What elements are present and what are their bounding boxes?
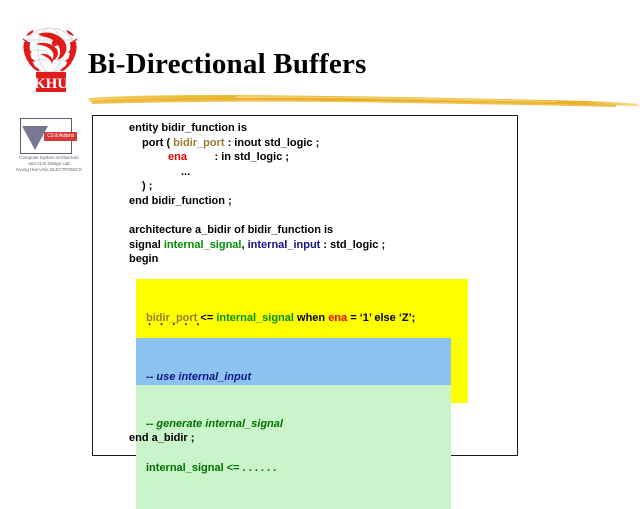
khu-logo: KHU — [14, 20, 86, 96]
code-line: ) ; — [129, 179, 513, 194]
code-token: internal_input — [248, 239, 321, 251]
code-token: internal_signal — [216, 312, 294, 324]
code-line: ... — [129, 165, 513, 180]
dept-logo-badge: CS & Actions — [44, 132, 77, 141]
code-token: = ‘1’ else ‘Z’; — [347, 312, 415, 324]
code-token: architecture a_bidir of bidir_function i… — [129, 224, 333, 236]
code-token: ) ; — [142, 180, 152, 192]
vhdl-code-panel: entity bidir_function isport ( bidir_por… — [92, 115, 518, 456]
department-lab-logo: CS & Actions Computer System Architectur… — [14, 118, 84, 180]
code-token: ena — [168, 151, 187, 163]
code-token: end bidir_function ; — [129, 195, 232, 207]
green-comment-line: -- generate internal_signal — [146, 417, 451, 432]
code-line: architecture a_bidir of bidir_function i… — [129, 223, 513, 238]
code-blank-line — [129, 209, 513, 224]
code-token: : inout std_logic ; — [225, 137, 320, 149]
code-line: begin — [129, 252, 513, 267]
code-token: bidir_port — [173, 137, 224, 149]
code-line: port ( bidir_port : inout std_logic ; — [129, 136, 513, 151]
title-underline-brushstroke — [86, 92, 640, 109]
vhdl-end-line: end a_bidir ; — [129, 432, 194, 444]
code-token: when — [294, 312, 328, 324]
code-line: end bidir_function ; — [129, 194, 513, 209]
dept-logo-caption: Computer System Architecture and VLSI De… — [14, 155, 84, 173]
code-token: entity bidir_function is — [129, 122, 247, 134]
code-token: : std_logic ; — [320, 239, 385, 251]
code-token: ... — [181, 166, 190, 178]
yellow-trailing-dots: . . . . . — [148, 316, 203, 328]
code-line: entity bidir_function is — [129, 121, 513, 136]
code-token: port ( — [142, 137, 173, 149]
code-token: : in std_logic ; — [187, 151, 289, 163]
code-token: begin — [129, 253, 158, 265]
dept-caption-line-3: Kyung Hee Univ. ELECTRONICS — [14, 167, 84, 173]
green-code-line: internal_signal <= . . . . . . — [146, 461, 451, 476]
code-token: ena — [328, 312, 347, 324]
code-line: signal internal_signal, internal_input :… — [129, 238, 513, 253]
blue-comment-line: -- use internal_input — [146, 370, 451, 385]
highlight-block-green: -- generate internal_signal internal_sig… — [136, 385, 451, 509]
vhdl-code-header-block: entity bidir_function isport ( bidir_por… — [129, 121, 513, 267]
code-token: internal_signal — [164, 239, 242, 251]
code-line: ena : in std_logic ; — [129, 150, 513, 165]
khu-wordmark: KHU — [34, 76, 68, 92]
page-title: Bi-Directional Buffers — [88, 48, 367, 81]
khu-emblem-icon: KHU — [14, 20, 86, 96]
code-token: signal — [129, 239, 164, 251]
